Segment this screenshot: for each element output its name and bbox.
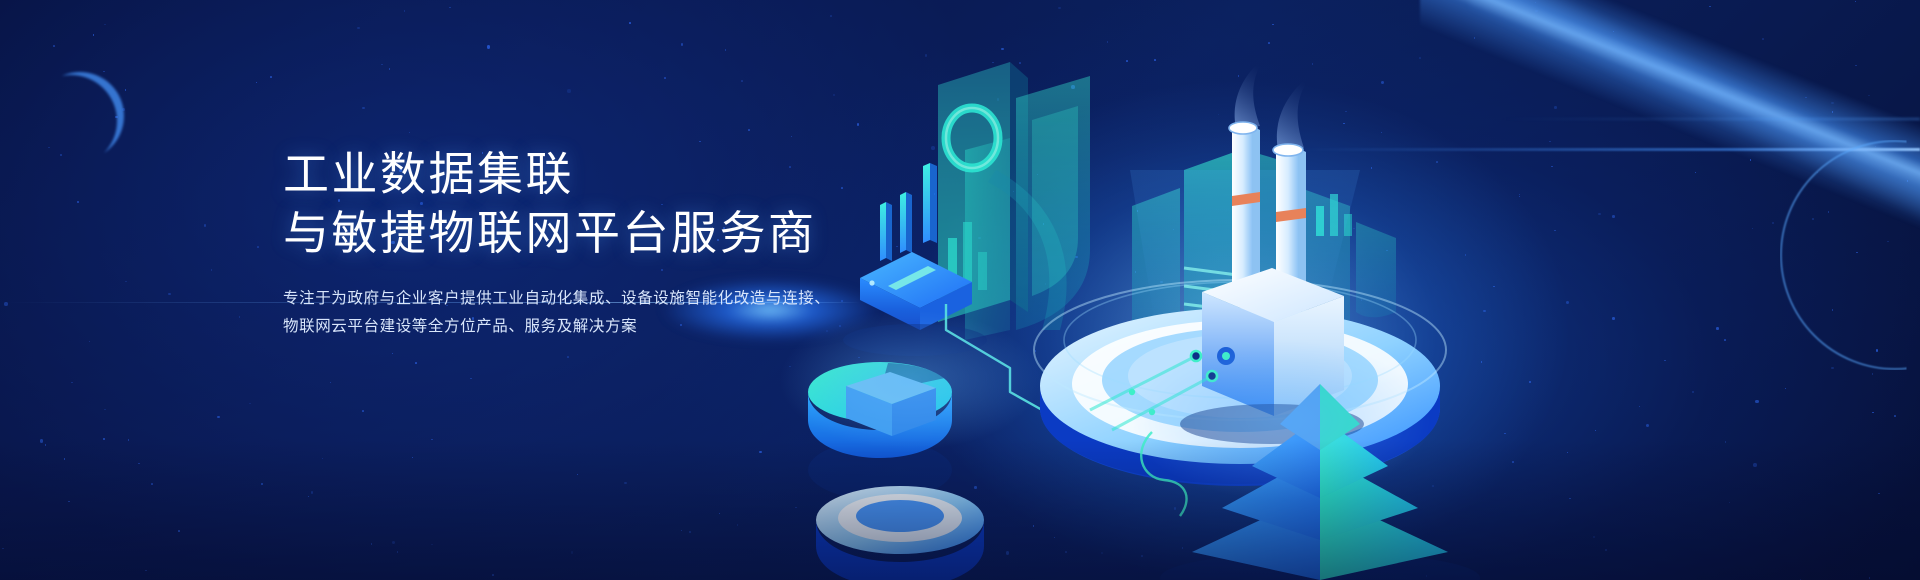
headline-line-1: 工业数据集联 (283, 145, 983, 204)
headline-line-2: 与敏捷物联网平台服务商 (283, 204, 983, 263)
spotlight-right (1130, 340, 1430, 500)
subtitle-line-1: 专注于为政府与企业客户提供工业自动化集成、设备设施智能化改造与连接、 (283, 285, 983, 314)
subtitle-line-2: 物联网云平台建设等全方位产品、服务及解决方案 (283, 313, 983, 342)
crescent-moon-icon (36, 72, 124, 160)
ring-pedestal (816, 486, 984, 580)
hero-copy: 工业数据集联 与敏捷物联网平台服务商 专注于为政府与企业客户提供工业自动化集成、… (283, 145, 983, 342)
hero-banner: 工业数据集联 与敏捷物联网平台服务商 专注于为政府与企业客户提供工业自动化集成、… (0, 0, 1920, 580)
